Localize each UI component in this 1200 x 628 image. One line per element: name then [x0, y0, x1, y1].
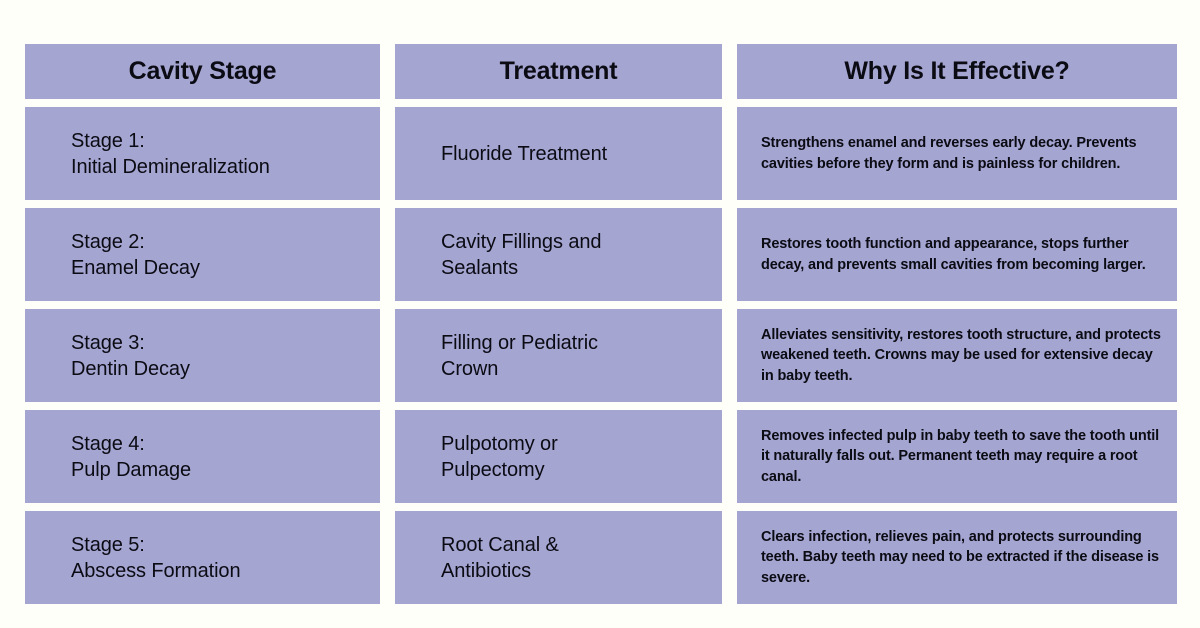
column-header-cavity-stage: Cavity Stage: [25, 44, 380, 99]
stage-number: Stage 2:: [71, 229, 380, 255]
stage-number: Stage 1:: [71, 128, 380, 154]
cell-effectiveness: Restores tooth function and appearance, …: [737, 208, 1177, 301]
stage-name: Pulp Damage: [71, 457, 380, 483]
cell-cavity-stage: Stage 5: Abscess Formation: [25, 511, 380, 604]
table-row: Stage 5: Abscess Formation Root Canal & …: [25, 511, 1177, 604]
column-header-label: Cavity Stage: [129, 57, 277, 86]
treatment-line-1: Pulpotomy or: [441, 431, 722, 457]
treatment-line-1: Fluoride Treatment: [441, 141, 722, 167]
cell-cavity-stage: Stage 2: Enamel Decay: [25, 208, 380, 301]
stage-number: Stage 4:: [71, 431, 380, 457]
table: Cavity Stage Treatment Why Is It Effecti…: [25, 44, 1177, 604]
cell-effectiveness: Clears infection, relieves pain, and pro…: [737, 511, 1177, 604]
effectiveness-text: Strengthens enamel and reverses early de…: [761, 133, 1163, 174]
treatment-line-2: Antibiotics: [441, 558, 722, 584]
treatment-line-1: Cavity Fillings and: [441, 229, 722, 255]
treatment-line-2: Sealants: [441, 255, 722, 281]
effectiveness-text: Clears infection, relieves pain, and pro…: [761, 527, 1163, 588]
treatment-line-1: Filling or Pediatric: [441, 330, 722, 356]
stage-name: Dentin Decay: [71, 356, 380, 382]
cell-treatment: Cavity Fillings and Sealants: [395, 208, 722, 301]
table-row: Stage 1: Initial Demineralization Fluori…: [25, 107, 1177, 200]
cavity-stage-treatment-table: Cavity Stage Treatment Why Is It Effecti…: [25, 44, 1177, 604]
column-header-treatment: Treatment: [395, 44, 722, 99]
column-header-why-is-it-effective: Why Is It Effective?: [737, 44, 1177, 99]
effectiveness-text: Alleviates sensitivity, restores tooth s…: [761, 325, 1163, 386]
stage-name: Enamel Decay: [71, 255, 380, 281]
cell-treatment: Filling or Pediatric Crown: [395, 309, 722, 402]
cell-effectiveness: Strengthens enamel and reverses early de…: [737, 107, 1177, 200]
column-header-label: Treatment: [500, 57, 618, 86]
stage-number: Stage 5:: [71, 532, 380, 558]
table-row: Stage 3: Dentin Decay Filling or Pediatr…: [25, 309, 1177, 402]
cell-cavity-stage: Stage 4: Pulp Damage: [25, 410, 380, 503]
cell-effectiveness: Removes infected pulp in baby teeth to s…: [737, 410, 1177, 503]
treatment-line-2: Crown: [441, 356, 722, 382]
cell-treatment: Pulpotomy or Pulpectomy: [395, 410, 722, 503]
treatment-line-2: Pulpectomy: [441, 457, 722, 483]
table-row: Stage 2: Enamel Decay Cavity Fillings an…: [25, 208, 1177, 301]
cell-cavity-stage: Stage 1: Initial Demineralization: [25, 107, 380, 200]
table-header-row: Cavity Stage Treatment Why Is It Effecti…: [25, 44, 1177, 99]
effectiveness-text: Removes infected pulp in baby teeth to s…: [761, 426, 1163, 487]
treatment-line-1: Root Canal &: [441, 532, 722, 558]
cell-effectiveness: Alleviates sensitivity, restores tooth s…: [737, 309, 1177, 402]
stage-number: Stage 3:: [71, 330, 380, 356]
effectiveness-text: Restores tooth function and appearance, …: [761, 234, 1163, 275]
table-row: Stage 4: Pulp Damage Pulpotomy or Pulpec…: [25, 410, 1177, 503]
cell-cavity-stage: Stage 3: Dentin Decay: [25, 309, 380, 402]
stage-name: Initial Demineralization: [71, 154, 380, 180]
column-header-label: Why Is It Effective?: [844, 57, 1069, 86]
stage-name: Abscess Formation: [71, 558, 380, 584]
cell-treatment: Root Canal & Antibiotics: [395, 511, 722, 604]
cell-treatment: Fluoride Treatment: [395, 107, 722, 200]
